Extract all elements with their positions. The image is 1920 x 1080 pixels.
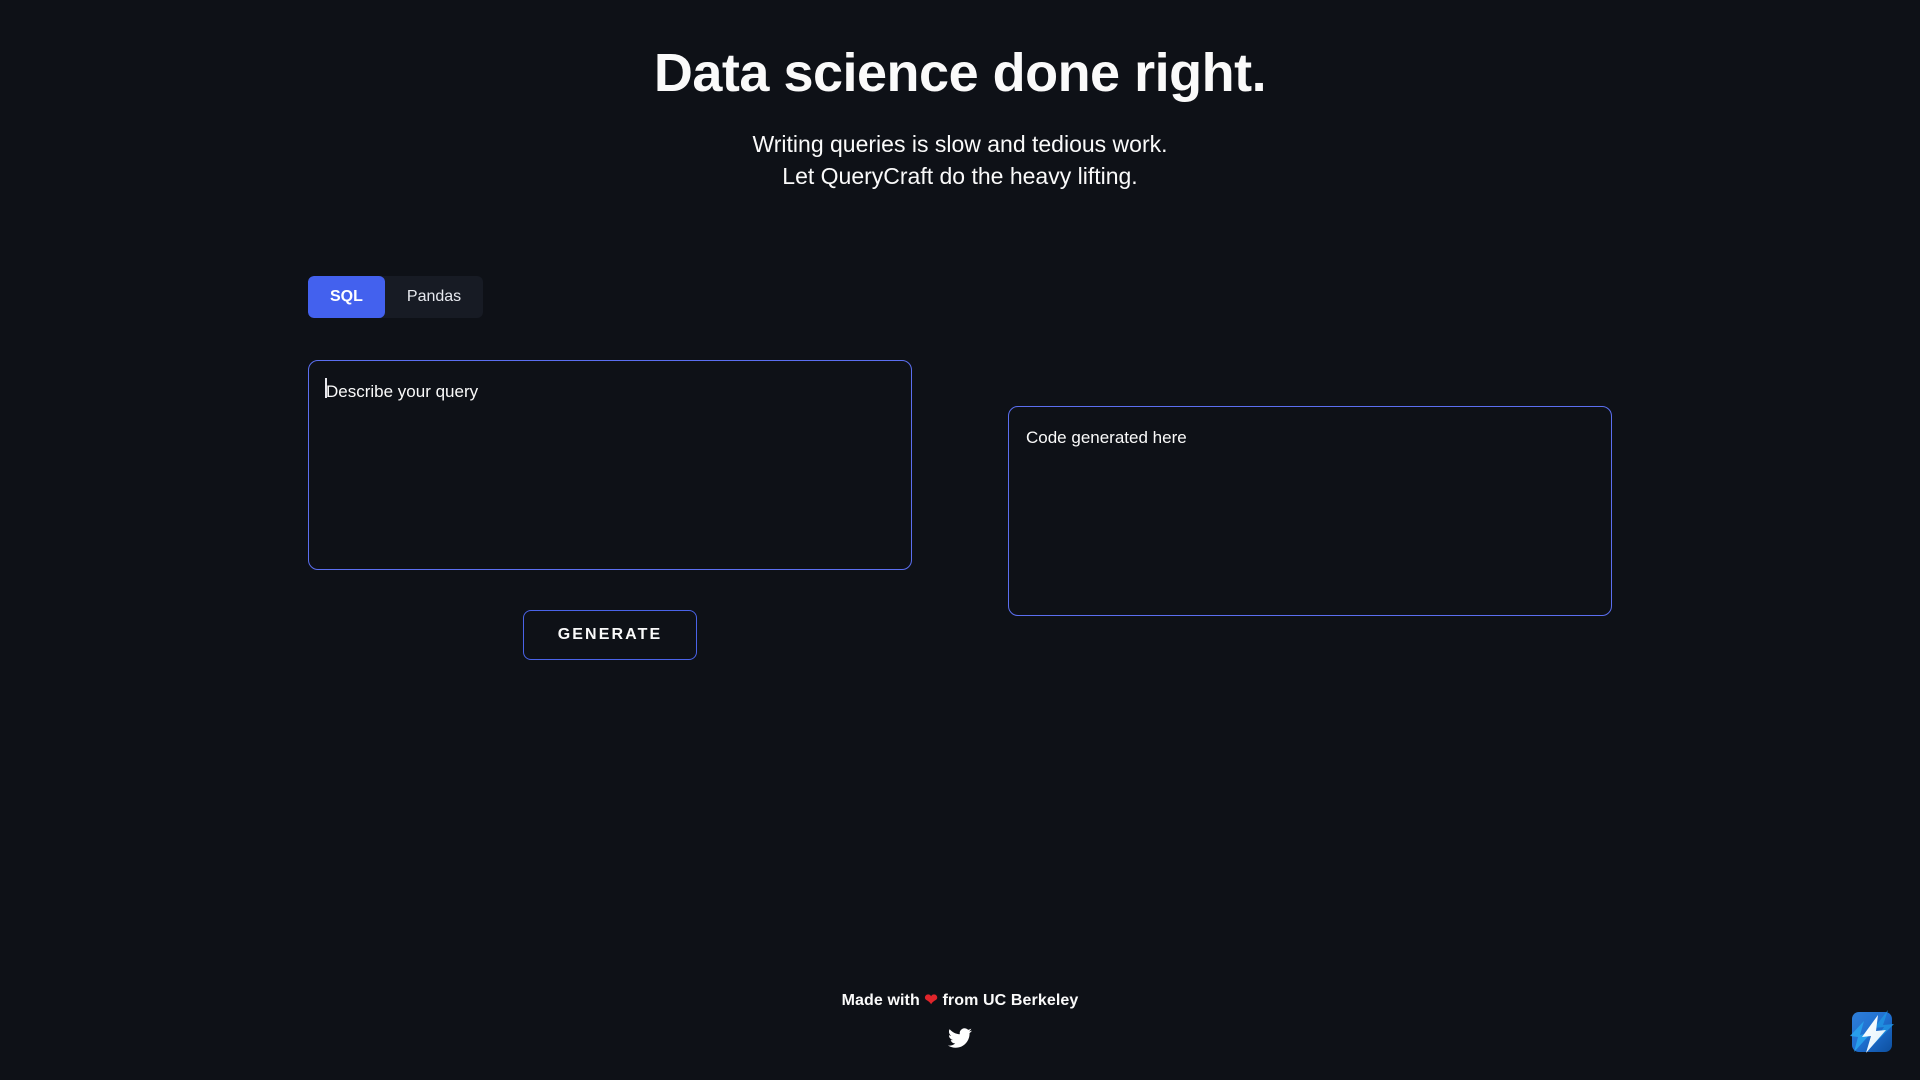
main-content: SQL Pandas GENERATE: [0, 276, 1920, 736]
hero-subtitle: Writing queries is slow and tedious work…: [0, 128, 1920, 193]
generate-button[interactable]: GENERATE: [523, 610, 698, 660]
generate-button-row: GENERATE: [308, 610, 912, 660]
language-tabbar: SQL Pandas: [308, 276, 483, 318]
footer-social-row: [0, 1024, 1920, 1052]
footer: Made with ❤ from UC Berkeley: [0, 990, 1920, 1052]
hero-subtitle-line-1: Writing queries is slow and tedious work…: [0, 128, 1920, 161]
app-root: Data science done right. Writing queries…: [0, 0, 1920, 1080]
query-description-input[interactable]: [308, 360, 912, 570]
heart-icon: ❤: [924, 992, 938, 1009]
hero-subtitle-line-2: Let QueryCraft do the heavy lifting.: [0, 160, 1920, 193]
tab-sql[interactable]: SQL: [308, 276, 385, 318]
twitter-icon[interactable]: [946, 1024, 974, 1052]
prompt-field-wrapper: [308, 318, 912, 575]
footer-credit-suffix: from UC Berkeley: [942, 992, 1078, 1009]
footer-credit-prefix: Made with: [842, 992, 920, 1009]
footer-credit: Made with ❤ from UC Berkeley: [0, 990, 1920, 1010]
page-title: Data science done right.: [0, 42, 1920, 106]
lightning-bolt-badge-icon[interactable]: [1844, 1006, 1906, 1068]
hero-section: Data science done right. Writing queries…: [0, 0, 1920, 193]
output-column: [1008, 276, 1612, 621]
text-caret: [325, 378, 327, 398]
tab-pandas[interactable]: Pandas: [385, 276, 483, 318]
input-column: SQL Pandas GENERATE: [308, 276, 912, 660]
generated-code-output[interactable]: [1008, 406, 1612, 616]
